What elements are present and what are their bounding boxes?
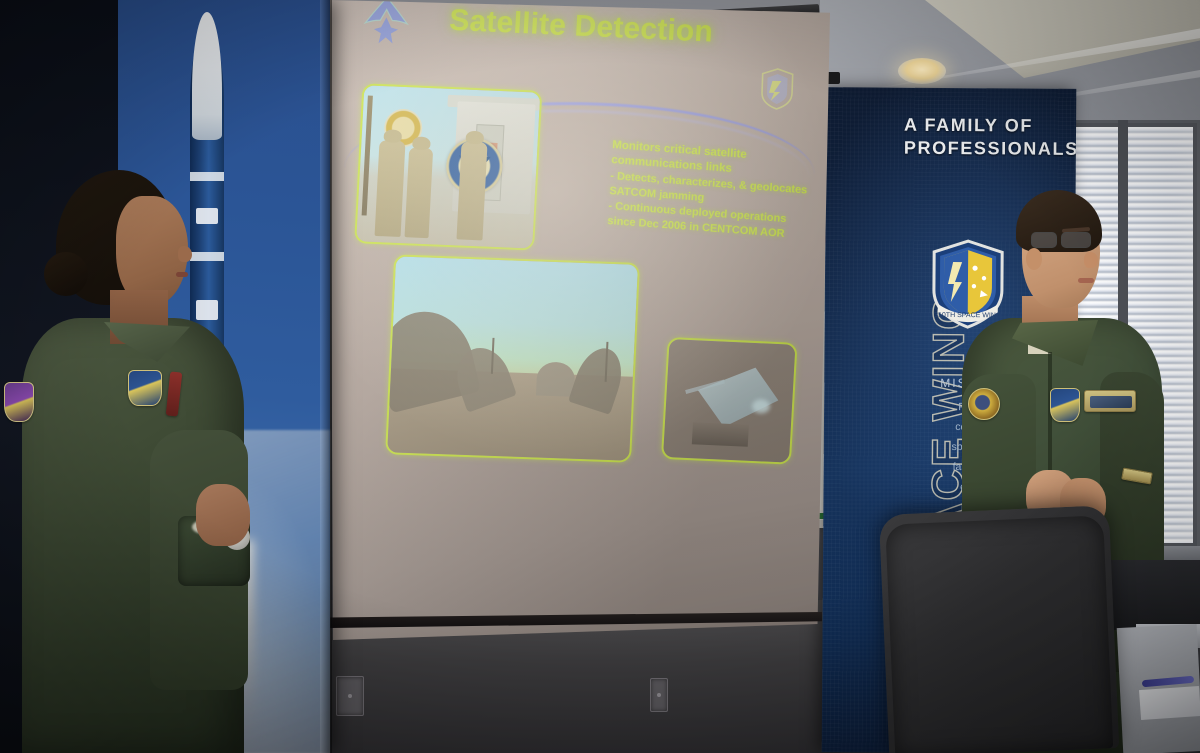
space-wing-emblem-icon: 310TH SPACE WING xyxy=(929,238,1008,331)
satellite-dishes-dusk-photo xyxy=(385,254,640,462)
photo-scene: ING A FAMILY OF PROFESSIONALS 310th SPAC… xyxy=(0,0,1200,753)
svg-text:310TH SPACE WING: 310TH SPACE WING xyxy=(934,312,1001,319)
coastline-landscape xyxy=(238,430,330,753)
wall-outlet-plate-left xyxy=(336,676,364,716)
air-force-shield-patch-icon xyxy=(128,370,162,406)
dish-mount-base xyxy=(692,422,749,447)
slide-body-text: Monitors critical satellite communicatio… xyxy=(607,138,812,243)
name-tape-patch xyxy=(1084,390,1136,412)
rocket-marking xyxy=(196,208,218,224)
air-force-shield-patch-icon xyxy=(1050,388,1080,422)
radome xyxy=(536,361,576,396)
recessed-ceiling-light xyxy=(898,58,946,84)
lips xyxy=(176,272,188,277)
deployed-airmen-photo xyxy=(354,83,542,250)
hair-bun xyxy=(44,252,88,296)
slide-title: Satellite Detection xyxy=(448,4,760,52)
soldier-figure xyxy=(405,147,434,238)
screw-icon xyxy=(348,694,352,698)
chair-backrest-seam xyxy=(885,515,1113,753)
projection-screen: Satellite Detection xyxy=(330,0,830,640)
banner-left-edge xyxy=(320,0,332,753)
unit-shield-emblem-icon xyxy=(758,67,796,112)
rocket-nose-cone xyxy=(192,12,222,140)
rocket-marking xyxy=(196,300,218,320)
air-force-symbol-icon xyxy=(356,0,416,56)
wall-outlet-plate-right xyxy=(650,678,668,712)
screw-icon xyxy=(657,693,661,697)
squadron-patch-icon xyxy=(968,388,1000,420)
squadron-patch-icon xyxy=(4,382,34,422)
office-chair[interactable] xyxy=(879,505,1119,753)
papers-stack xyxy=(1139,686,1200,720)
soldier-figure xyxy=(375,140,406,237)
soldier-figure xyxy=(456,141,487,240)
nose xyxy=(178,246,192,262)
nose xyxy=(1084,252,1098,268)
presentation-slide: Satellite Detection xyxy=(330,0,830,640)
lips xyxy=(1078,278,1094,283)
hand xyxy=(196,484,250,546)
rocket-band xyxy=(190,172,224,181)
satellite-dish-closeup-photo xyxy=(661,337,798,465)
rocket-band xyxy=(190,252,224,261)
eyeglasses-icon xyxy=(1031,232,1093,247)
ear xyxy=(1026,248,1042,270)
